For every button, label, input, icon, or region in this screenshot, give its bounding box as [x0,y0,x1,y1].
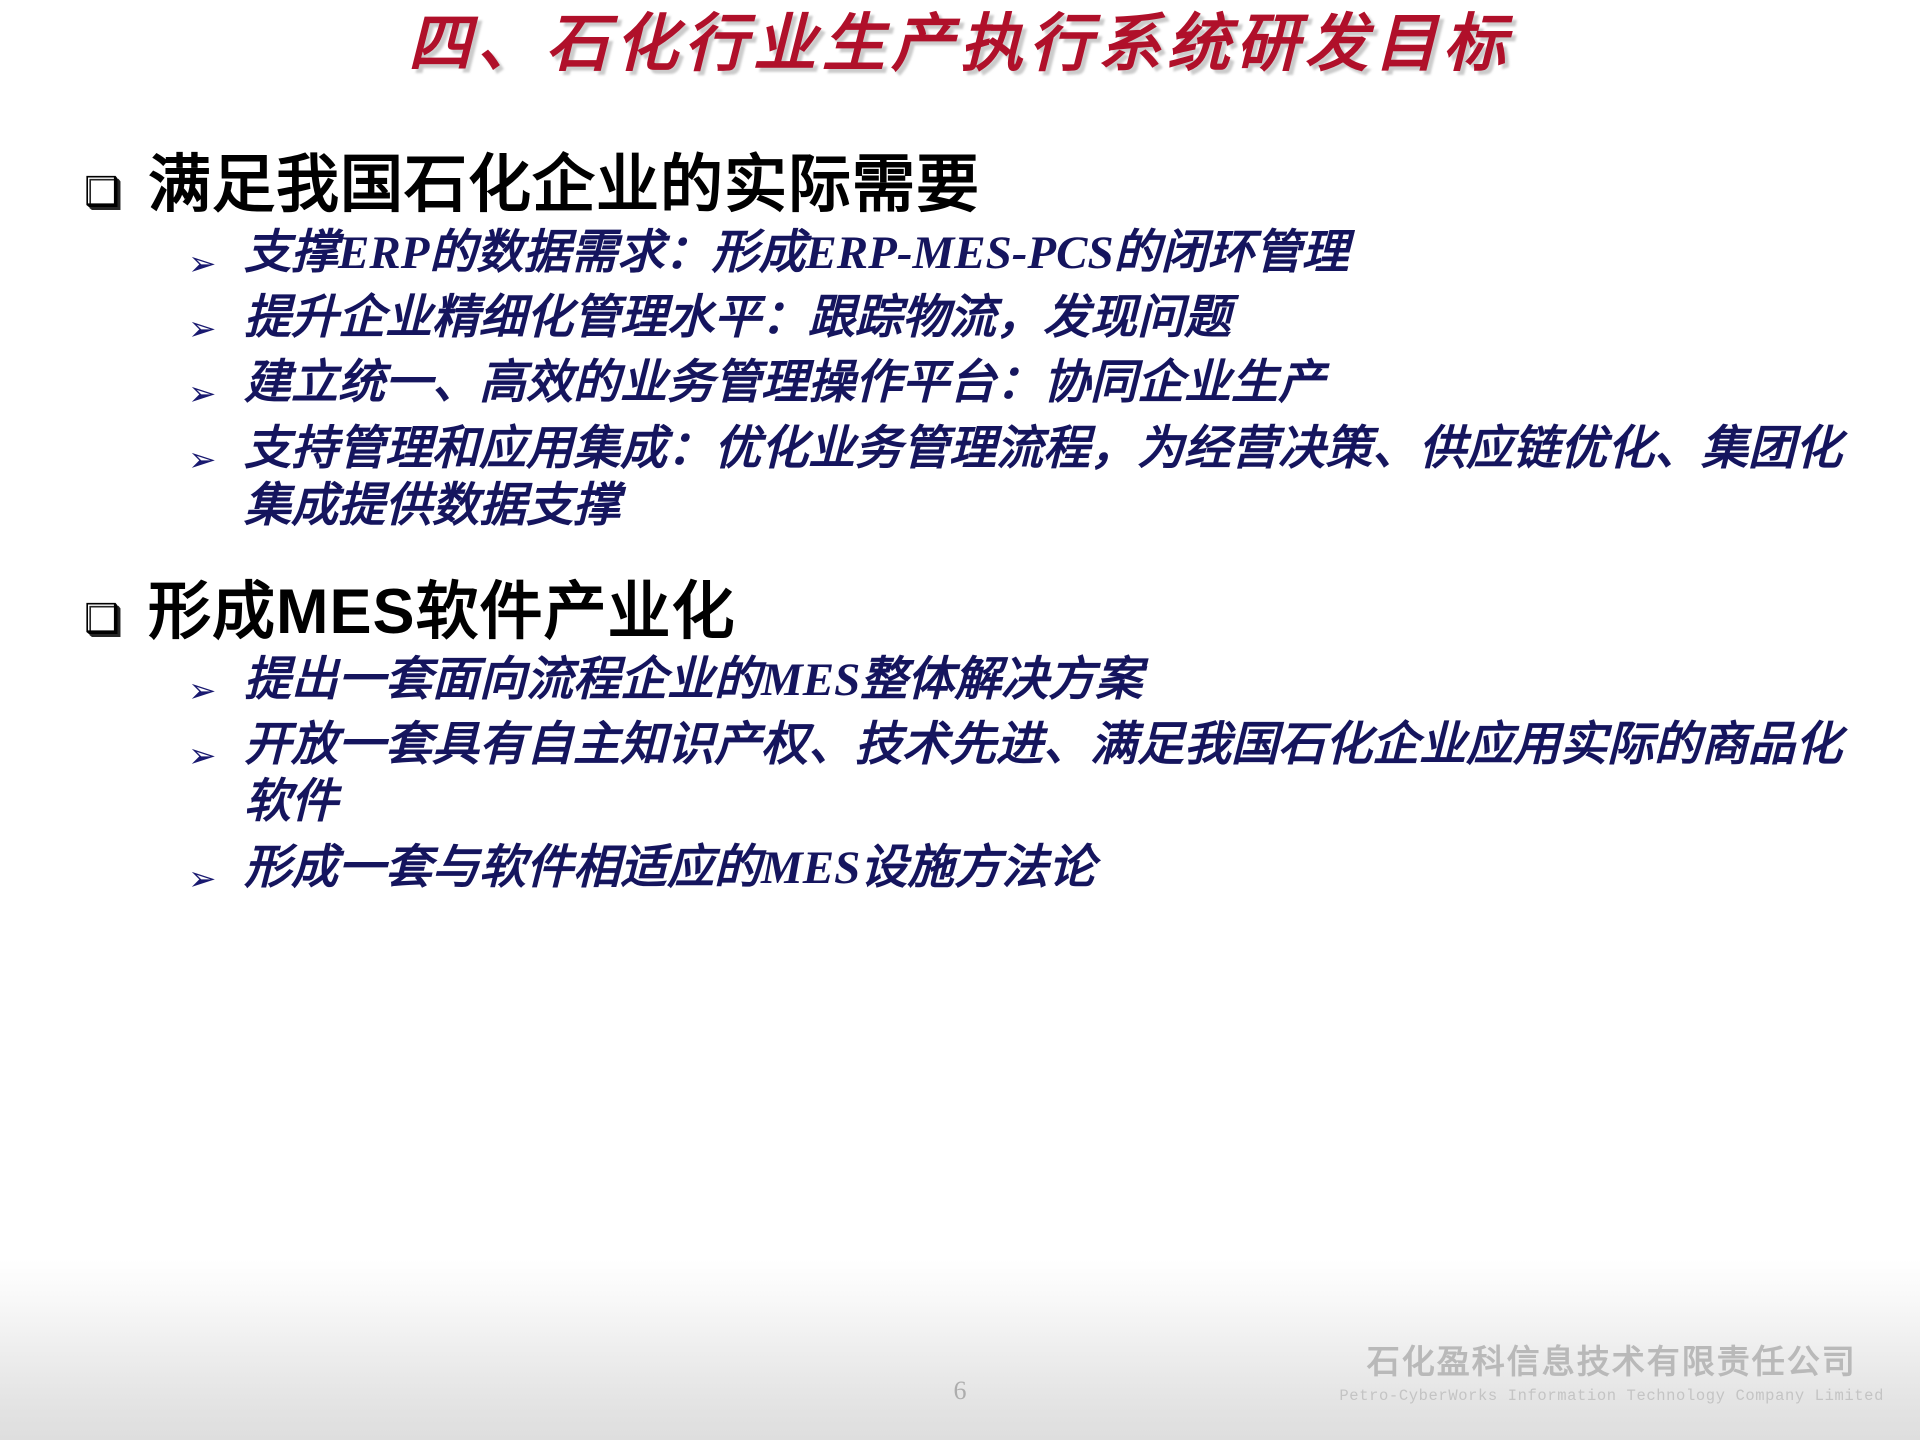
arrow-bullet-icon: ➢ [188,717,244,773]
bullet-text: 形成一套与软件相适应的MES设施方法论 [244,840,1095,897]
slide-title-container: 四、石化行业生产执行系统研发目标 [0,8,1920,80]
arrow-bullet-icon: ➢ [188,652,244,708]
bullet-level1-0: ❑ 满足我国石化企业的实际需要 [0,150,1920,221]
bullet-level2-1-0: ➢ 提出一套面向流程企业的MES整体解决方案 [0,652,1920,709]
bullet-level2-1-2: ➢ 形成一套与软件相适应的MES设施方法论 [0,840,1920,897]
bullet-text: 支持管理和应用集成：优化业务管理流程，为经营决策、供应链优化、集团化集成提供数据… [244,421,1864,536]
company-name-cn: 石化盈科信息技术有限责任公司 [1339,1347,1884,1380]
bullet-text: 支撑ERP的数据需求：形成ERP-MES-PCS的闭环管理 [244,225,1349,282]
slide-body: ❑ 满足我国石化企业的实际需要 ➢ 支撑ERP的数据需求：形成ERP-MES-P… [0,150,1920,905]
bullet-text: 开放一套具有自主知识产权、技术先进、满足我国石化企业应用实际的商品化软件 [244,717,1864,832]
slide-canvas: 四、石化行业生产执行系统研发目标 ❑ 满足我国石化企业的实际需要 ➢ 支撑ERP… [0,0,1920,1440]
section-heading: 形成MES软件产业化 [148,577,736,648]
square-bullet-icon: ❑ [84,577,148,639]
bullet-level2-1-1: ➢ 开放一套具有自主知识产权、技术先进、满足我国石化企业应用实际的商品化软件 [0,717,1920,832]
bullet-level1-1: ❑ 形成MES软件产业化 [0,577,1920,648]
bullet-text: 提出一套面向流程企业的MES整体解决方案 [244,652,1142,709]
company-logo: 石化盈科信息技术有限责任公司 Petro-CyberWorks Informat… [1339,1347,1884,1405]
bullet-level2-0-0: ➢ 支撑ERP的数据需求：形成ERP-MES-PCS的闭环管理 [0,225,1920,282]
arrow-bullet-icon: ➢ [188,355,244,411]
arrow-bullet-icon: ➢ [188,225,244,281]
page-title: 四、石化行业生产执行系统研发目标 [408,8,1512,80]
bullet-level2-0-3: ➢ 支持管理和应用集成：优化业务管理流程，为经营决策、供应链优化、集团化集成提供… [0,421,1920,536]
section-spacer [0,543,1920,577]
company-name-en: Petro-CyberWorks Information Technology … [1339,1389,1884,1405]
section-heading: 满足我国石化企业的实际需要 [148,150,980,221]
bullet-level2-0-2: ➢ 建立统一、高效的业务管理操作平台：协同企业生产 [0,355,1920,412]
arrow-bullet-icon: ➢ [188,290,244,346]
bullet-level2-0-1: ➢ 提升企业精细化管理水平：跟踪物流，发现问题 [0,290,1920,347]
arrow-bullet-icon: ➢ [188,840,244,896]
arrow-bullet-icon: ➢ [188,421,244,477]
bullet-text: 提升企业精细化管理水平：跟踪物流，发现问题 [244,290,1231,347]
bullet-text: 建立统一、高效的业务管理操作平台：协同企业生产 [244,355,1325,412]
square-bullet-icon: ❑ [84,150,148,212]
